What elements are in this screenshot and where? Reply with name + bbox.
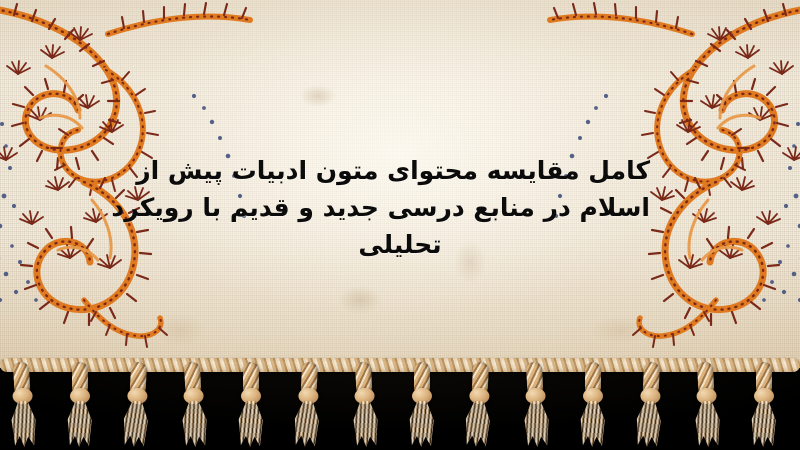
fringe-tassel [4,359,43,449]
tassel-skirt [522,400,552,447]
slide-canvas: کامل مقایسه محتوای متون ادبیات پیش از اس… [0,0,800,450]
tassel-skirt [579,401,607,447]
tassel-skirt [634,400,664,447]
tassel-skirt [66,401,94,447]
tassel-skirt [693,400,723,447]
fringe-tassel [346,359,385,449]
fringe-tassel [747,360,781,448]
fringe-tassel [517,359,556,449]
tassel-skirt [9,400,39,447]
title-line-2: اسلام در منابع درسی جدید و قدیم با رویکر… [150,189,650,226]
tassel-skirt [750,401,778,447]
fringe-tassel [576,360,610,448]
tassel-skirt [408,401,436,447]
tassel-skirt [463,400,493,447]
tassel-skirt [351,400,381,447]
fringe-tassel [118,359,157,449]
fringe-tassel [460,359,499,449]
tassel-fringe [0,360,800,450]
fringe-tassel [688,359,727,449]
fringe-tassel [63,360,97,448]
fringe-tassel [405,360,439,448]
fringe-tassel [234,360,268,448]
title-line-3: تحلیلی [150,226,650,263]
tassel-skirt [180,400,210,447]
tassel-skirt [121,400,151,447]
tassel-skirt [237,401,265,447]
title-line-1: کامل مقایسه محتوای متون ادبیات پیش از [150,152,650,189]
tassel-skirt [292,400,322,447]
fringe-tassel [631,359,670,449]
slide-title: کامل مقایسه محتوای متون ادبیات پیش از اس… [150,152,650,263]
fringe-tassel [289,359,328,449]
fringe-tassel [175,359,214,449]
